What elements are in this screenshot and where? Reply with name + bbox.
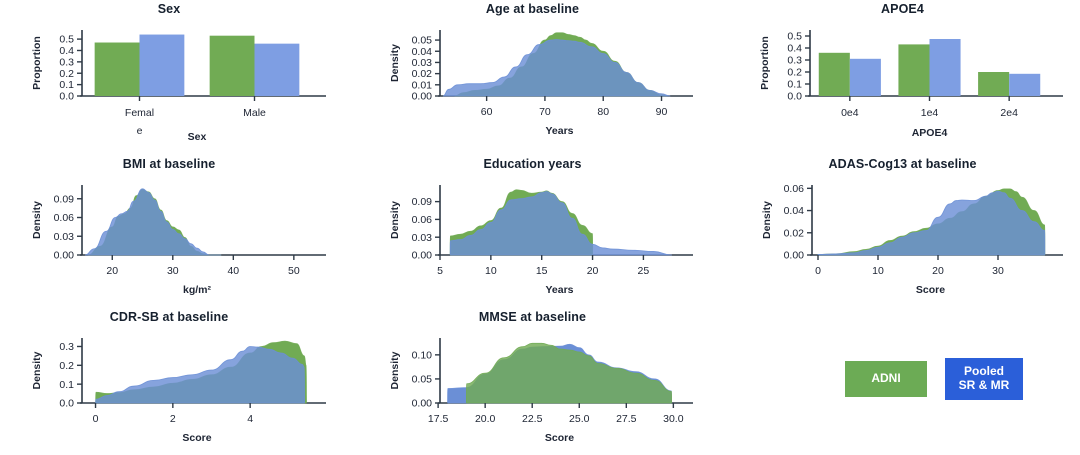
svg-text:0.2: 0.2 [59,360,74,372]
svg-text:Male: Male [243,107,266,119]
bar-sex-0-1 [140,35,185,96]
svg-text:0.1: 0.1 [59,79,74,91]
svg-text:60: 60 [481,106,493,118]
legend-adni[interactable]: ADNI [845,361,927,397]
panel-bmi: BMI at baseline0.000.030.060.09Density20… [4,157,334,307]
x-axis-label-age: Years [545,125,573,137]
svg-text:25: 25 [638,265,650,277]
y-axis-label-adas: Density [761,201,773,239]
svg-text:0e4: 0e4 [841,107,859,119]
svg-text:0.06: 0.06 [784,183,805,195]
svg-text:0.06: 0.06 [412,214,433,226]
svg-text:0.3: 0.3 [59,56,74,68]
svg-text:0.1: 0.1 [787,79,802,91]
bar-sex-0-0 [95,43,140,96]
bar-apoe4-0-0 [819,53,850,96]
legend-pooled-sr-mr-label: PooledSR & MR [959,365,1010,393]
svg-text:10: 10 [872,265,884,277]
bar-apoe4-2-1 [1009,74,1040,96]
svg-text:0.05: 0.05 [412,374,433,386]
density-area-adas-1 [818,191,1045,255]
svg-text:25.0: 25.0 [569,413,590,425]
svg-text:2: 2 [170,413,176,425]
panel-age: Age at baseline0.000.010.020.030.040.05D… [360,2,705,152]
y-axis-label-mmse: Density [389,351,401,389]
svg-text:50: 50 [288,265,300,277]
bar-apoe4-0-1 [850,59,881,96]
svg-text:0.10: 0.10 [412,349,433,361]
svg-text:0.03: 0.03 [54,231,75,243]
bar-apoe4-1-1 [930,39,961,96]
y-axis-label-bmi: Density [31,201,43,239]
x-axis-label-bmi: kg/m² [183,284,212,296]
plot-age: 0.000.010.020.030.040.05Density60708090Y… [360,2,705,152]
x-axis-label-adas: Score [916,284,945,296]
bar-sex-1-0 [210,36,255,96]
plot-education: 0.000.030.060.09Density510152025Years [360,157,705,307]
svg-text:20: 20 [587,265,599,277]
figure-panel-grid: Sex0.00.10.20.30.40.5ProportionFemaleMal… [0,0,1080,455]
svg-text:30.0: 30.0 [663,413,684,425]
x-axis-label-education: Years [545,284,573,296]
svg-text:15: 15 [536,265,548,277]
x-axis-label-sex: Sex [188,131,207,143]
svg-text:0.01: 0.01 [412,79,433,91]
svg-text:Femal: Femal [125,107,154,119]
svg-text:0.02: 0.02 [412,68,433,80]
density-area-bmi-1 [85,189,221,255]
legend-pooled-sr-mr-sublabel: SR & MR [959,379,1010,393]
svg-text:30: 30 [167,265,179,277]
plot-apoe4: 0.00.10.20.30.40.5Proportion0e41e42e4APO… [730,2,1075,152]
x-axis-label-mmse: Score [545,432,574,444]
svg-text:80: 80 [597,106,609,118]
svg-text:70: 70 [539,106,551,118]
svg-text:0.0: 0.0 [787,91,802,103]
panel-adas: ADAS-Cog13 at baseline0.000.020.040.06De… [730,157,1075,307]
panel-apoe4: APOE40.00.10.20.30.40.5Proportion0e41e42… [730,2,1075,152]
svg-text:0: 0 [93,413,99,425]
y-axis-label-cdrsb: Density [31,351,43,389]
svg-text:0.2: 0.2 [787,67,802,79]
density-area-age-1 [443,40,670,96]
svg-text:40: 40 [227,265,239,277]
plot-mmse: 0.000.050.10Density17.520.022.525.027.53… [360,310,705,455]
svg-text:0.0: 0.0 [59,398,74,410]
legend: ADNIPooledSR & MR [845,358,1023,400]
bar-apoe4-2-0 [978,72,1009,96]
svg-text:0.00: 0.00 [784,250,805,262]
y-axis-label-age: Density [389,44,401,82]
svg-text:0.04: 0.04 [784,205,805,217]
x-axis-label-apoe4: APOE4 [912,127,948,139]
panel-sex: Sex0.00.10.20.30.40.5ProportionFemaleMal… [4,2,334,152]
svg-text:27.5: 27.5 [616,413,637,425]
svg-text:20: 20 [106,265,118,277]
svg-text:0.2: 0.2 [59,68,74,80]
svg-text:0.3: 0.3 [787,55,802,67]
plot-adas: 0.000.020.040.06Density0102030Score [730,157,1075,307]
plot-sex: 0.00.10.20.30.40.5ProportionFemaleMaleSe… [4,2,334,152]
svg-text:0.3: 0.3 [59,341,74,353]
svg-text:4: 4 [247,413,253,425]
svg-text:0.4: 0.4 [787,43,802,55]
panel-cdrsb: CDR-SB at baseline0.00.10.20.3Density024… [4,310,334,455]
x-axis-label-cdrsb: Score [182,432,211,444]
plot-bmi: 0.000.030.060.09Density20304050kg/m² [4,157,334,307]
svg-text:0.0: 0.0 [59,91,74,103]
svg-text:90: 90 [656,106,668,118]
bar-sex-1-1 [255,44,300,96]
density-area-cdrsb-1 [96,346,305,403]
svg-text:17.5: 17.5 [428,413,449,425]
legend-pooled-sr-mr[interactable]: PooledSR & MR [945,358,1023,400]
y-axis-label-sex: Proportion [31,36,43,90]
bar-apoe4-1-0 [898,44,929,96]
svg-text:0: 0 [815,265,821,277]
svg-text:20.0: 20.0 [475,413,496,425]
svg-text:2e4: 2e4 [1000,107,1018,119]
y-axis-label-apoe4: Proportion [759,36,771,90]
svg-text:0.00: 0.00 [412,250,433,262]
svg-text:22.5: 22.5 [522,413,543,425]
svg-text:20: 20 [932,265,944,277]
svg-text:0.4: 0.4 [59,45,74,57]
svg-text:0.00: 0.00 [54,250,75,262]
svg-text:0.00: 0.00 [412,398,433,410]
panel-mmse: MMSE at baseline0.000.050.10Density17.52… [360,310,705,455]
plot-cdrsb: 0.00.10.20.3Density024Score [4,310,334,455]
svg-text:e: e [137,125,143,137]
svg-text:0.03: 0.03 [412,57,433,69]
svg-text:0.05: 0.05 [412,35,433,47]
svg-text:0.1: 0.1 [59,379,74,391]
svg-text:5: 5 [437,265,443,277]
svg-text:0.5: 0.5 [787,31,802,43]
y-axis-label-education: Density [389,201,401,239]
svg-text:0.09: 0.09 [412,196,433,208]
svg-text:0.04: 0.04 [412,46,433,58]
svg-text:0.5: 0.5 [59,34,74,46]
svg-text:0.09: 0.09 [54,193,75,205]
svg-text:0.06: 0.06 [54,212,75,224]
svg-text:0.00: 0.00 [412,91,433,103]
svg-text:30: 30 [992,265,1004,277]
svg-text:0.03: 0.03 [412,232,433,244]
panel-education: Education years0.000.030.060.09Density51… [360,157,705,307]
svg-text:10: 10 [485,265,497,277]
svg-text:1e4: 1e4 [921,107,939,119]
legend-adni-label: ADNI [871,372,900,386]
svg-text:0.02: 0.02 [784,227,805,239]
